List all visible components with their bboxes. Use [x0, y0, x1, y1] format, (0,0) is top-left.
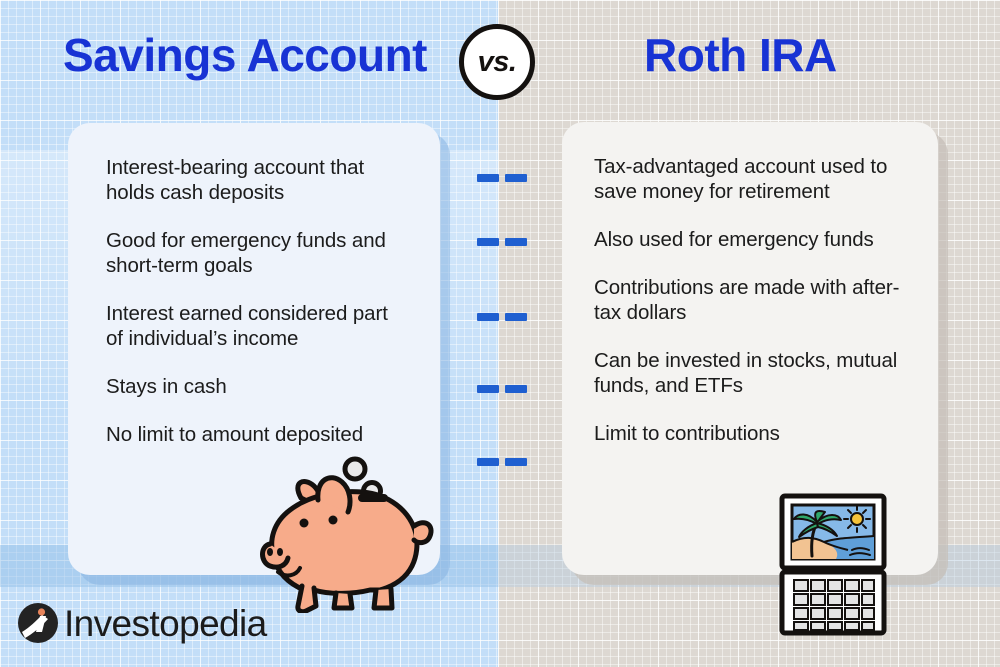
divider-dash-row [477, 458, 527, 466]
divider-dash-row [477, 174, 527, 182]
left-column-title: Savings Account [63, 28, 427, 82]
list-item: Interest earned considered part of indiv… [106, 301, 410, 351]
list-item: Can be invested in stocks, mutual funds,… [594, 348, 918, 398]
list-item: Tax-advantaged account used to save mone… [594, 154, 918, 204]
divider-dash-row [477, 385, 527, 393]
infographic-root: Savings Account Roth IRA vs. Interest-be… [0, 0, 1000, 667]
list-item: Interest-bearing account that holds cash… [106, 155, 410, 205]
divider-dash-left [477, 238, 499, 246]
list-item: Stays in cash [106, 374, 410, 399]
investopedia-logo: Investopedia [16, 600, 267, 646]
list-item: Good for emergency funds and short-term … [106, 228, 410, 278]
savings-account-feature-list: Interest-bearing account that holds cash… [68, 123, 440, 447]
piggy-bank-icon [258, 448, 444, 613]
divider-dash-left [477, 385, 499, 393]
investopedia-wordmark: Investopedia [64, 605, 267, 642]
versus-badge: vs. [459, 24, 535, 100]
divider-dash-left [477, 313, 499, 321]
list-item: Contributions are made with after-tax do… [594, 275, 918, 325]
laptop-beach-icon [778, 492, 888, 637]
roth-ira-feature-list: Tax-advantaged account used to save mone… [562, 122, 938, 446]
divider-dash-right [505, 458, 527, 466]
list-item: No limit to amount deposited [106, 422, 410, 447]
divider-dash-right [505, 313, 527, 321]
right-column-title: Roth IRA [644, 28, 837, 82]
versus-badge-label: vs. [478, 46, 517, 79]
divider-dash-right [505, 174, 527, 182]
divider-dash-row [477, 238, 527, 246]
divider-dash-left [477, 458, 499, 466]
list-item: Limit to contributions [594, 421, 918, 446]
divider-dash-right [505, 238, 527, 246]
divider-dash-row [477, 313, 527, 321]
divider-dash-left [477, 174, 499, 182]
list-item: Also used for emergency funds [594, 227, 918, 252]
investopedia-mark-icon [16, 601, 60, 645]
divider-dash-right [505, 385, 527, 393]
